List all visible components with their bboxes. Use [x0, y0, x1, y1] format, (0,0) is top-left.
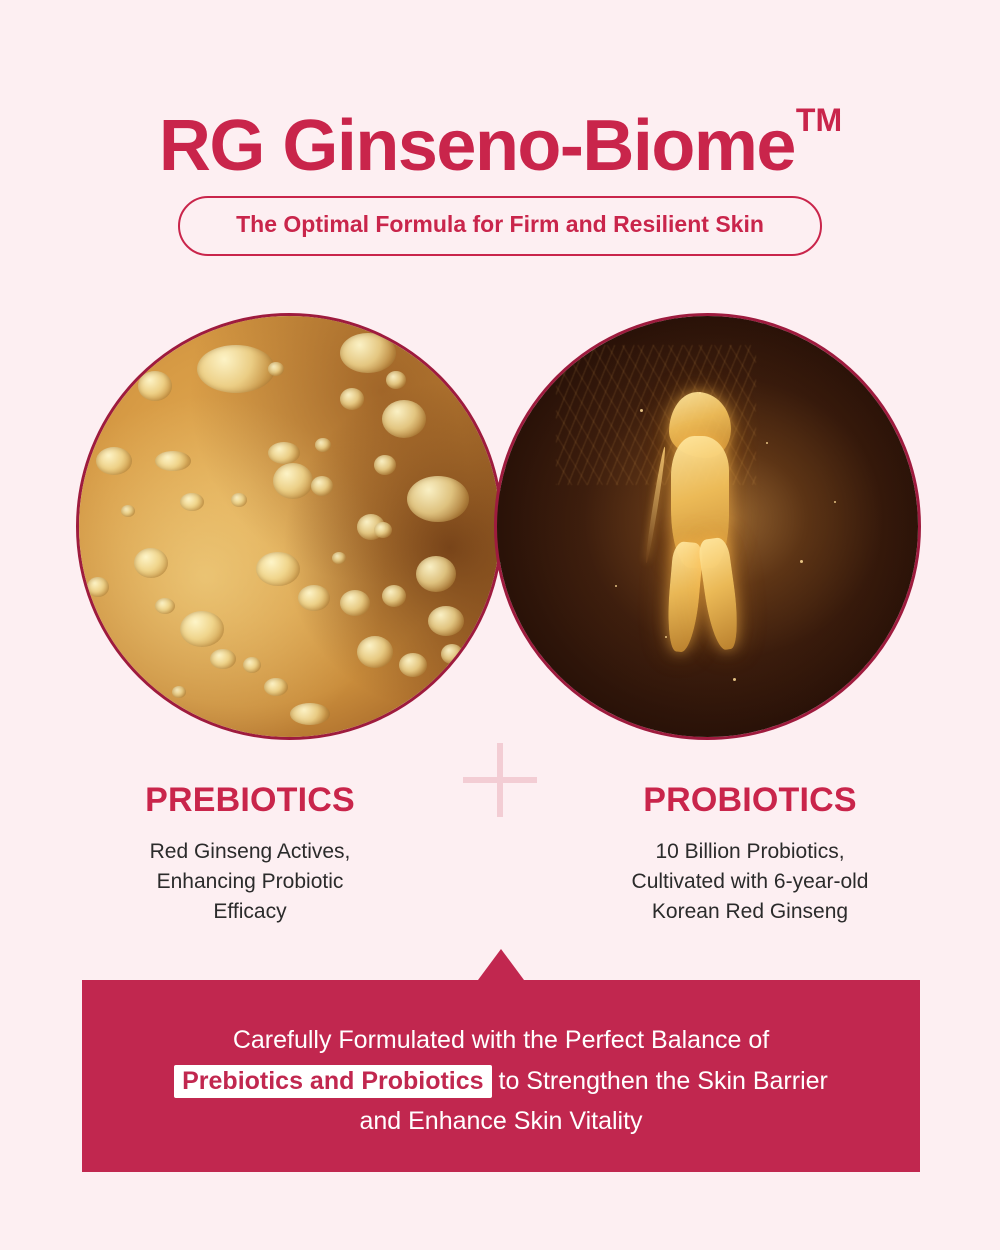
probiotics-column: PROBIOTICS 10 Billion Probiotics, Cultiv…: [500, 782, 1000, 927]
prebiotics-image-circle: [76, 313, 503, 740]
ingredient-columns: PREBIOTICS Red Ginseng Actives, Enhancin…: [0, 782, 1000, 927]
prebiotics-description-line-3: Efficacy: [213, 900, 286, 923]
banner-line-3: and Enhance Skin Vitality: [359, 1107, 642, 1135]
page-title: RG Ginseno-BiomeTM: [159, 110, 841, 182]
banner-notch-arrow: [478, 949, 524, 980]
bubble: [155, 598, 175, 614]
prebiotics-description-line-1: Red Ginseng Actives,: [150, 840, 351, 863]
banner-line-1: Carefully Formulated with the Perfect Ba…: [233, 1026, 769, 1054]
bubble: [138, 371, 172, 401]
bubble: [441, 644, 463, 664]
glow-speck: [733, 678, 736, 681]
subtitle-pill: The Optimal Formula for Firm and Resilie…: [178, 196, 822, 256]
bubble: [273, 463, 313, 499]
bubble: [416, 556, 456, 592]
banner-line-2: to Strengthen the Skin Barrier: [499, 1067, 828, 1095]
bubble: [290, 703, 330, 725]
bubble: [428, 606, 464, 636]
bubble: [340, 388, 364, 410]
ingredient-images: [0, 313, 1000, 743]
bubble: [399, 653, 427, 677]
probiotics-heading: PROBIOTICS: [556, 782, 944, 819]
bubble: [382, 400, 426, 438]
prebiotics-description-line-2: Enhancing Probiotic: [157, 870, 344, 893]
bubble: [298, 585, 330, 611]
probiotics-description-line-3: Korean Red Ginseng: [652, 900, 848, 923]
bubble: [382, 585, 406, 607]
bubble: [311, 476, 333, 496]
bubble: [264, 678, 288, 696]
page-title-text: RG Ginseno-Biome: [159, 106, 795, 186]
prebiotics-heading: PREBIOTICS: [56, 782, 444, 819]
bubble-cluster: [79, 316, 500, 737]
prebiotics-description: Red Ginseng Actives, Enhancing Probiotic…: [56, 837, 444, 926]
bubble: [172, 686, 186, 698]
ginseng-leg-left: [664, 540, 703, 652]
banner-highlight-phrase: Prebiotics and Probiotics: [174, 1065, 491, 1098]
ginseng-root-illustration: [643, 392, 773, 662]
bubble: [374, 522, 392, 538]
ginseng-leg-right: [697, 536, 742, 651]
probiotics-description-line-1: 10 Billion Probiotics,: [655, 840, 844, 863]
bubble: [268, 442, 300, 464]
bubble: [180, 493, 204, 511]
bubble: [210, 649, 236, 669]
bubble: [332, 552, 346, 564]
bubble: [180, 611, 224, 647]
bubble: [340, 590, 370, 616]
bubble: [134, 548, 168, 578]
bubble: [374, 455, 396, 475]
bubble: [357, 636, 393, 668]
bubble: [268, 362, 284, 376]
glow-speck: [640, 409, 643, 412]
subtitle-pill-container: The Optimal Formula for Firm and Resilie…: [0, 196, 1000, 256]
bubble: [231, 493, 247, 507]
prebiotics-column: PREBIOTICS Red Ginseng Actives, Enhancin…: [0, 782, 500, 927]
bubble: [197, 345, 275, 393]
bubble: [87, 577, 109, 597]
bubble: [407, 476, 469, 522]
bubble: [96, 447, 132, 475]
bubble: [340, 333, 396, 373]
bubble: [386, 371, 406, 389]
probiotics-description-line-2: Cultivated with 6-year-old: [632, 870, 869, 893]
glow-speck: [699, 392, 701, 394]
trademark-symbol: TM: [796, 102, 842, 138]
bubble: [155, 451, 191, 471]
probiotics-description: 10 Billion Probiotics, Cultivated with 6…: [556, 837, 944, 926]
summary-banner: Carefully Formulated with the Perfect Ba…: [82, 980, 920, 1172]
product-ingredient-infographic: RG Ginseno-BiomeTM The Optimal Formula f…: [0, 0, 1000, 1250]
bubble: [121, 505, 135, 517]
bubble: [256, 552, 300, 586]
bubble: [243, 657, 261, 673]
probiotics-image-circle: [494, 313, 921, 740]
summary-banner-text: Carefully Formulated with the Perfect Ba…: [82, 1020, 920, 1142]
bubble: [315, 438, 331, 452]
ginseng-tendril: [643, 446, 666, 563]
